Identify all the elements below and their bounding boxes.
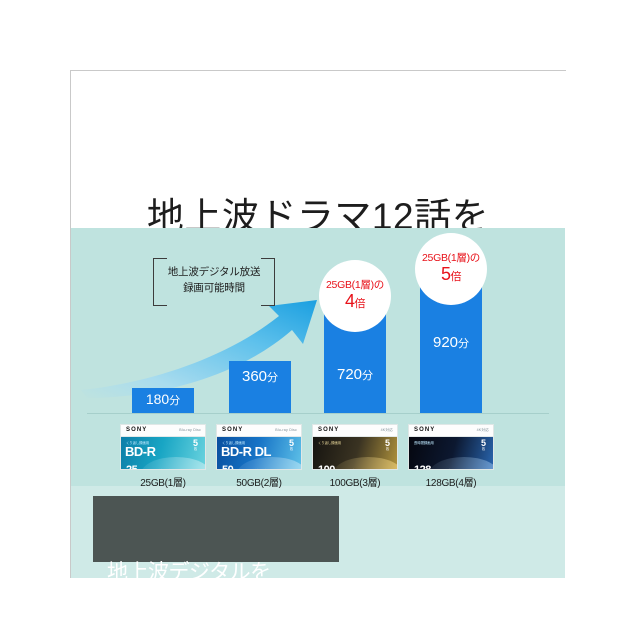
package-title-50gb: BD-R DL: [221, 445, 271, 458]
product-package-50gb: SONY Blu-ray Disc くり返し録画用 5枚 BD-R DL 50 …: [216, 424, 302, 470]
axis-label-100gb: 100GB(3層): [312, 474, 398, 489]
package-title-25gb: BD-R: [125, 445, 156, 458]
bracket-line-1: 地上波デジタル放送: [153, 264, 275, 280]
bar-value-50gb: 360分: [229, 368, 291, 385]
callout-4x-line1: 25GB(1層)の: [326, 280, 384, 292]
axis-label-25gb: 25GB(1層): [120, 474, 206, 489]
package-header-100gb: SONY 4K対応: [313, 425, 397, 437]
chart-subject-bracket: 地上波デジタル放送 録画可能時間: [153, 258, 275, 304]
package-subtext-25gb: 2倍速対応 / 片面1層: [151, 468, 178, 470]
sony-logo: SONY: [414, 427, 435, 433]
chart-panel: 地上波デジタル放送 録画可能時間 180分 360分 720分 920分 25G…: [71, 228, 565, 578]
summary-banner: 地上波デジタルを 720分録画可能: [93, 496, 339, 562]
package-art-128gb: 長時間録画用 5枚 128GB BDXL 片面4層: [409, 437, 493, 470]
package-capacity-128gb: 128GB: [414, 465, 439, 470]
bracket-line-2: 録画可能時間: [153, 280, 275, 296]
package-quantity-50gb: 5枚: [286, 439, 297, 451]
package-subtext-128gb: BDXL 片面4層: [439, 468, 459, 470]
package-subtext-100gb: BDXL 片面3層: [343, 468, 363, 470]
callout-5x: 25GB(1層)の 5倍: [415, 233, 487, 305]
package-capacity-100gb: 100GB: [318, 465, 343, 470]
package-art-25gb: くり返し録画用 5枚 BD-R 25 2倍速対応 / 片面1層: [121, 437, 205, 470]
bar-value-128gb: 920分: [420, 334, 482, 351]
callout-5x-value: 5倍: [441, 265, 461, 285]
package-feature-128gb: 長時間録画用: [414, 440, 434, 445]
package-feature-100gb: くり返し録画用: [318, 440, 341, 445]
bluray-logo-icon: Blu-ray Disc: [275, 428, 297, 432]
bluray-logo-icon: Blu-ray Disc: [179, 428, 201, 432]
axis-label-128gb: 128GB(4層): [408, 474, 494, 489]
axis-label-50gb: 50GB(2層): [216, 474, 302, 489]
bluray-logo-icon: 4K対応: [477, 428, 489, 433]
bar-50gb: 360分: [229, 361, 291, 413]
package-subtext-50gb: 2倍速対応 / 片面2層: [247, 468, 274, 470]
package-header-25gb: SONY Blu-ray Disc: [121, 425, 205, 437]
package-art-50gb: くり返し録画用 5枚 BD-R DL 50 2倍速対応 / 片面2層: [217, 437, 301, 470]
product-package-25gb: SONY Blu-ray Disc くり返し録画用 5枚 BD-R 25 2倍速…: [120, 424, 206, 470]
product-package-100gb: SONY 4K対応 くり返し録画用 5枚 100GB BDXL 片面3層: [312, 424, 398, 470]
bluray-logo-icon: 4K対応: [381, 428, 393, 433]
bar-25gb: 180分: [132, 388, 194, 413]
package-art-100gb: くり返し録画用 5枚 100GB BDXL 片面3層: [313, 437, 397, 470]
sony-logo: SONY: [318, 427, 339, 433]
poster-root: 地上波ドラマ12話を 高画質のまま保存できる 地上波デジタル放送: [0, 0, 640, 640]
package-quantity-100gb: 5枚: [382, 439, 393, 451]
sony-logo: SONY: [222, 427, 243, 433]
package-quantity-25gb: 5枚: [190, 439, 201, 451]
callout-4x: 25GB(1層)の 4倍: [319, 260, 391, 332]
bracket-text: 地上波デジタル放送 録画可能時間: [153, 264, 275, 297]
chart-baseline: [87, 413, 549, 414]
bar-value-100gb: 720分: [324, 366, 386, 383]
package-capacity-50gb: 50: [222, 465, 233, 470]
product-package-128gb: SONY 4K対応 長時間録画用 5枚 128GB BDXL 片面4層: [408, 424, 494, 470]
bar-value-25gb: 180分: [132, 391, 194, 408]
package-header-128gb: SONY 4K対応: [409, 425, 493, 437]
summary-line-1: 地上波デジタルを: [107, 559, 271, 578]
summary-banner-text: 地上波デジタルを 720分録画可能: [107, 503, 271, 578]
package-quantity-128gb: 5枚: [478, 439, 489, 451]
package-capacity-25gb: 25: [126, 465, 137, 470]
callout-5x-line1: 25GB(1層)の: [422, 253, 480, 265]
package-header-50gb: SONY Blu-ray Disc: [217, 425, 301, 437]
callout-4x-value: 4倍: [345, 292, 365, 312]
sony-logo: SONY: [126, 427, 147, 433]
